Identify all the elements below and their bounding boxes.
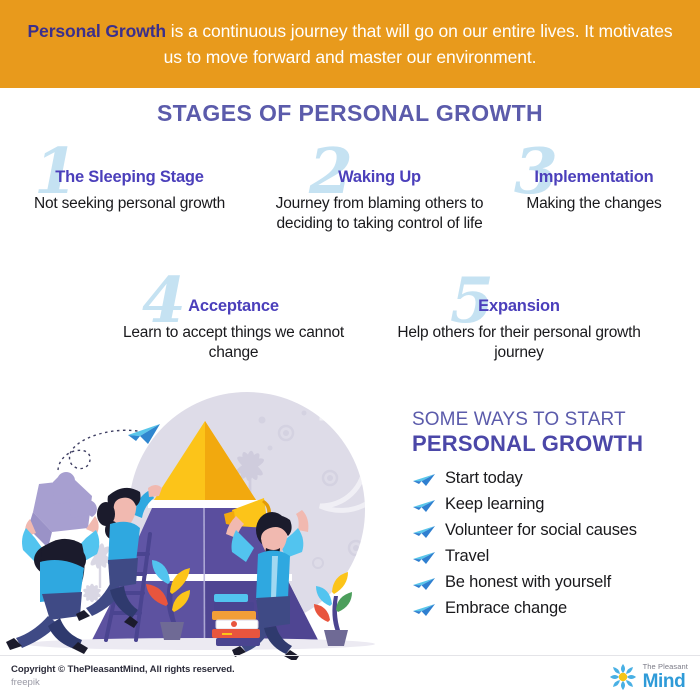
brand-logo[interactable]: The Pleasant Mind: [608, 662, 688, 692]
paper-plane-icon: [412, 602, 436, 620]
stage-description-5: Help others for their personal growth jo…: [395, 323, 643, 363]
list-item: Be honest with yourself: [412, 572, 688, 594]
paper-plane-icon: [412, 576, 436, 594]
stages-section-title: STAGES OF PERSONAL GROWTH: [0, 100, 700, 127]
stage-description-3: Making the changes: [508, 194, 680, 214]
stage-card-4: 4 Acceptance Learn to accept things we c…: [117, 297, 350, 363]
infographic-page: Personal Growth is a continuous journey …: [0, 0, 700, 700]
way-label: Be honest with yourself: [445, 572, 611, 593]
way-label: Travel: [445, 546, 489, 567]
paper-plane-icon: [412, 550, 436, 568]
way-label: Keep learning: [445, 494, 544, 515]
list-item: Volunteer for social causes: [412, 520, 688, 542]
header-rest: is a continuous journey that will go on …: [164, 21, 673, 67]
stage-card-1: 1 The Sleeping Stage Not seeking persona…: [22, 168, 237, 214]
paper-plane-icon: [412, 524, 436, 542]
stage-title-5: Expansion: [395, 297, 643, 316]
stage-title-2: Waking Up: [253, 168, 506, 187]
copyright-text: Copyright © ThePleasantMind, All rights …: [11, 664, 235, 675]
credit-text: freepik: [11, 677, 40, 688]
list-item: Keep learning: [412, 494, 688, 516]
way-label: Start today: [445, 468, 523, 489]
header-intro-text: Personal Growth is a continuous journey …: [22, 18, 678, 70]
ways-to-start-panel: SOME WAYS TO START PERSONAL GROWTH Start…: [412, 408, 688, 624]
flower-star-icon: [608, 662, 638, 692]
brand-wordmark: The Pleasant Mind: [643, 663, 688, 691]
woman-with-puzzle-piece: [6, 472, 99, 654]
stage-title-4: Acceptance: [117, 297, 350, 316]
paper-plane-icon: [412, 472, 436, 490]
brand-name-text: Mind: [643, 672, 688, 691]
header-highlight: Personal Growth: [27, 21, 166, 41]
personal-growth-illustration: [0, 388, 400, 660]
stage-card-3: 3 Implementation Making the changes: [508, 168, 680, 214]
list-item: Start today: [412, 468, 688, 490]
stage-description-2: Journey from blaming others to deciding …: [253, 194, 506, 234]
dotted-path: [58, 430, 142, 470]
stage-description-1: Not seeking personal growth: [22, 194, 237, 214]
ways-title-main: PERSONAL GROWTH: [412, 431, 688, 457]
way-label: Volunteer for social causes: [445, 520, 637, 541]
brand-top-text: The Pleasant: [643, 663, 688, 671]
header-banner: Personal Growth is a continuous journey …: [0, 0, 700, 88]
way-label: Embrace change: [445, 598, 567, 619]
stage-title-1: The Sleeping Stage: [22, 168, 237, 187]
stage-card-5: 5 Expansion Help others for their person…: [395, 297, 643, 363]
list-item: Travel: [412, 546, 688, 568]
footer-divider: [0, 655, 700, 656]
ways-title-top: SOME WAYS TO START: [412, 408, 688, 431]
list-item: Embrace change: [412, 598, 688, 620]
stage-title-3: Implementation: [508, 168, 680, 187]
stage-description-4: Learn to accept things we cannot change: [117, 323, 350, 363]
stage-card-2: 2 Waking Up Journey from blaming others …: [253, 168, 506, 234]
paper-plane-icon: [412, 498, 436, 516]
ways-list: Start today Keep learning Volunteer for …: [412, 468, 688, 620]
